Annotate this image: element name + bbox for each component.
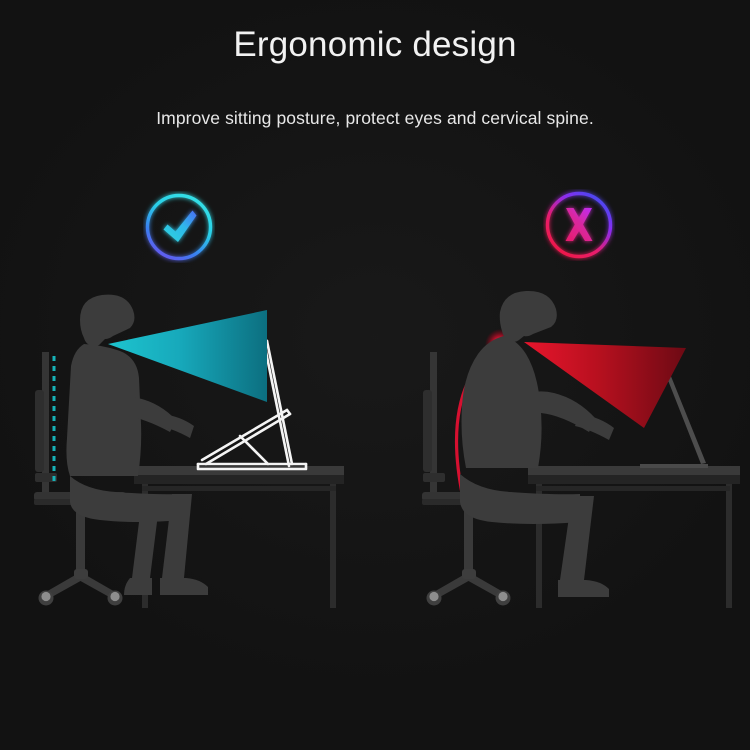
page-subtitle: Improve sitting posture, protect eyes an… [0, 108, 750, 129]
page-title: Ergonomic design [0, 24, 750, 66]
correct-posture-badge [143, 191, 215, 263]
bad-sightline-cone [524, 342, 686, 428]
x-icon [543, 189, 615, 261]
incorrect-posture-badge [543, 189, 615, 261]
check-icon [143, 191, 215, 263]
correct-posture-illustration [22, 290, 362, 620]
correct-posture-scene [22, 290, 362, 620]
ergonomic-design-infographic: Ergonomic design Improve sitting posture… [0, 0, 750, 750]
incorrect-posture-scene [408, 290, 748, 620]
incorrect-posture-illustration [408, 290, 748, 620]
